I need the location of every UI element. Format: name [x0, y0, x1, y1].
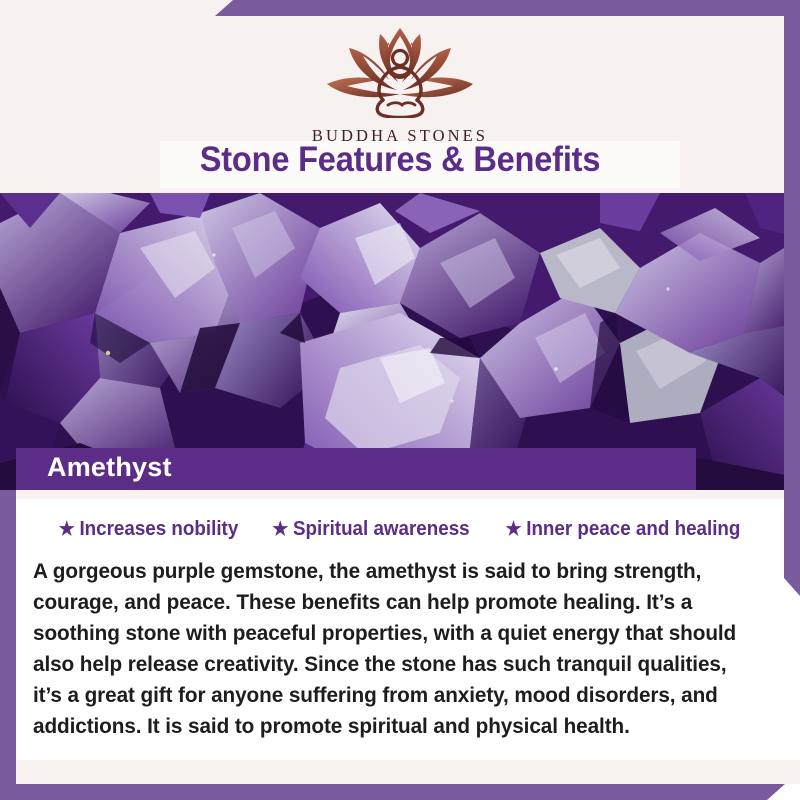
body-bottom-spacer [0, 760, 800, 784]
infographic-page: BUDDHA STONES Stone Features & Benefits [0, 0, 800, 800]
stone-name-label: Amethyst [47, 452, 172, 483]
body-top-spacer [0, 490, 800, 499]
feature-label: Increases nobility [79, 518, 238, 541]
lotus-meditation-figure-icon [0, 22, 800, 123]
frame-border-top [215, 0, 800, 16]
header-section: BUDDHA STONES Stone Features & Benefits [0, 0, 800, 193]
feature-item-1: ★ Spiritual awareness [272, 518, 469, 541]
star-icon: ★ [272, 520, 288, 539]
stone-description: A gorgeous purple gemstone, the amethyst… [33, 556, 749, 742]
feature-label: Inner peace and healing [526, 518, 740, 541]
star-icon: ★ [505, 520, 521, 539]
amethyst-crystal-cluster-photo [0, 193, 800, 490]
frame-border-right [784, 0, 800, 596]
feature-label: Spiritual awareness [293, 518, 470, 541]
feature-item-0: ★ Increases nobility [58, 518, 238, 541]
feature-item-2: ★ Inner peace and healing [505, 518, 740, 541]
brand-logo: BUDDHA STONES [0, 22, 800, 146]
page-title: Stone Features & Benefits [28, 140, 772, 180]
feature-list: ★ Increases nobility ★ Spiritual awarene… [0, 518, 800, 541]
frame-border-bottom [0, 784, 785, 800]
frame-border-left [0, 490, 16, 800]
star-icon: ★ [58, 520, 74, 539]
